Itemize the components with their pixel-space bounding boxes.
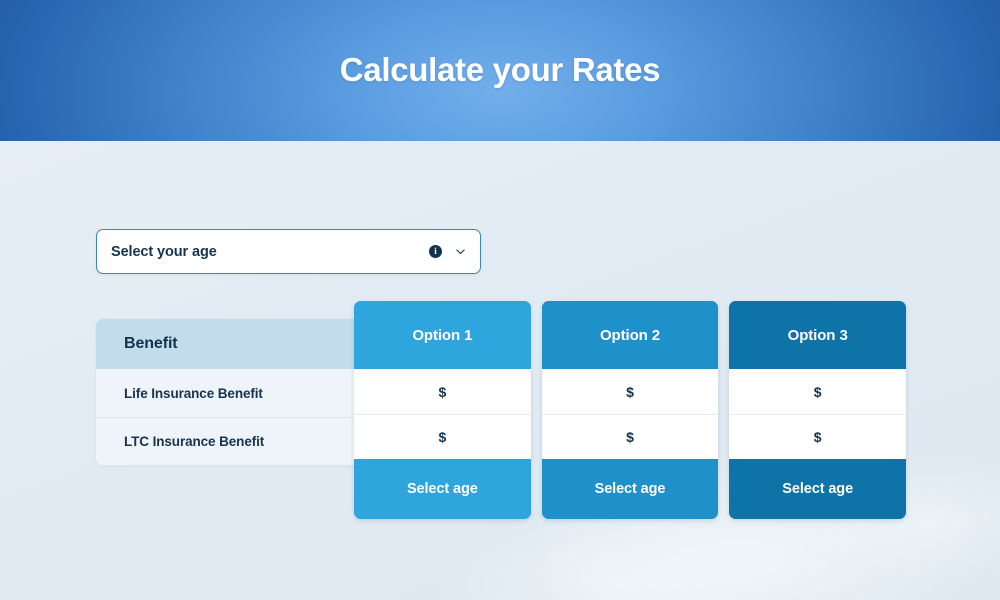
rates-table: Benefit Life Insurance Benefit LTC Insur… [96, 301, 906, 526]
option-value: $ [814, 429, 822, 445]
select-age-button[interactable]: Select age [354, 459, 531, 519]
option-value-cell: $ [542, 414, 719, 459]
select-age-button-label: Select age [595, 481, 666, 497]
option-value-cell: $ [354, 414, 531, 459]
benefit-row-label: LTC Insurance Benefit [124, 434, 264, 449]
option-value-cell: $ [354, 369, 531, 414]
benefit-column: Benefit Life Insurance Benefit LTC Insur… [96, 319, 392, 465]
option-value: $ [626, 384, 634, 400]
page-background: Calculate your Rates Select your age i B… [0, 0, 1000, 600]
page-header-banner: Calculate your Rates [0, 0, 1000, 141]
option-card-header: Option 2 [542, 301, 719, 369]
option-value-cell: $ [729, 414, 906, 459]
select-age-button-label: Select age [407, 481, 478, 497]
age-select-dropdown[interactable]: Select your age i [96, 229, 481, 274]
option-card-2: Option 2 $ $ Select age [542, 301, 719, 519]
select-age-button-label: Select age [782, 481, 853, 497]
option-card-1: Option 1 $ $ Select age [354, 301, 531, 519]
info-icon[interactable]: i [429, 245, 442, 258]
chevron-down-icon[interactable] [455, 246, 466, 257]
option-value: $ [626, 429, 634, 445]
age-select-label: Select your age [111, 244, 429, 260]
option-card-header: Option 1 [354, 301, 531, 369]
option-header-label: Option 3 [788, 327, 848, 344]
option-header-label: Option 1 [412, 327, 472, 344]
option-header-label: Option 2 [600, 327, 660, 344]
benefit-header-label: Benefit [124, 335, 178, 353]
table-row: Life Insurance Benefit [96, 369, 392, 417]
benefit-column-header: Benefit [96, 319, 392, 369]
option-value: $ [438, 429, 446, 445]
option-value: $ [438, 384, 446, 400]
option-card-3: Option 3 $ $ Select age [729, 301, 906, 519]
page-title: Calculate your Rates [340, 53, 660, 86]
select-age-button[interactable]: Select age [542, 459, 719, 519]
option-value-cell: $ [729, 369, 906, 414]
select-age-button[interactable]: Select age [729, 459, 906, 519]
option-card-header: Option 3 [729, 301, 906, 369]
option-value-cell: $ [542, 369, 719, 414]
main-content: Select your age i Benefit Life Insurance… [0, 141, 1000, 600]
option-cards: Option 1 $ $ Select age Option 2 [354, 301, 906, 519]
benefit-row-label: Life Insurance Benefit [124, 386, 263, 401]
table-row: LTC Insurance Benefit [96, 417, 392, 465]
option-value: $ [814, 384, 822, 400]
